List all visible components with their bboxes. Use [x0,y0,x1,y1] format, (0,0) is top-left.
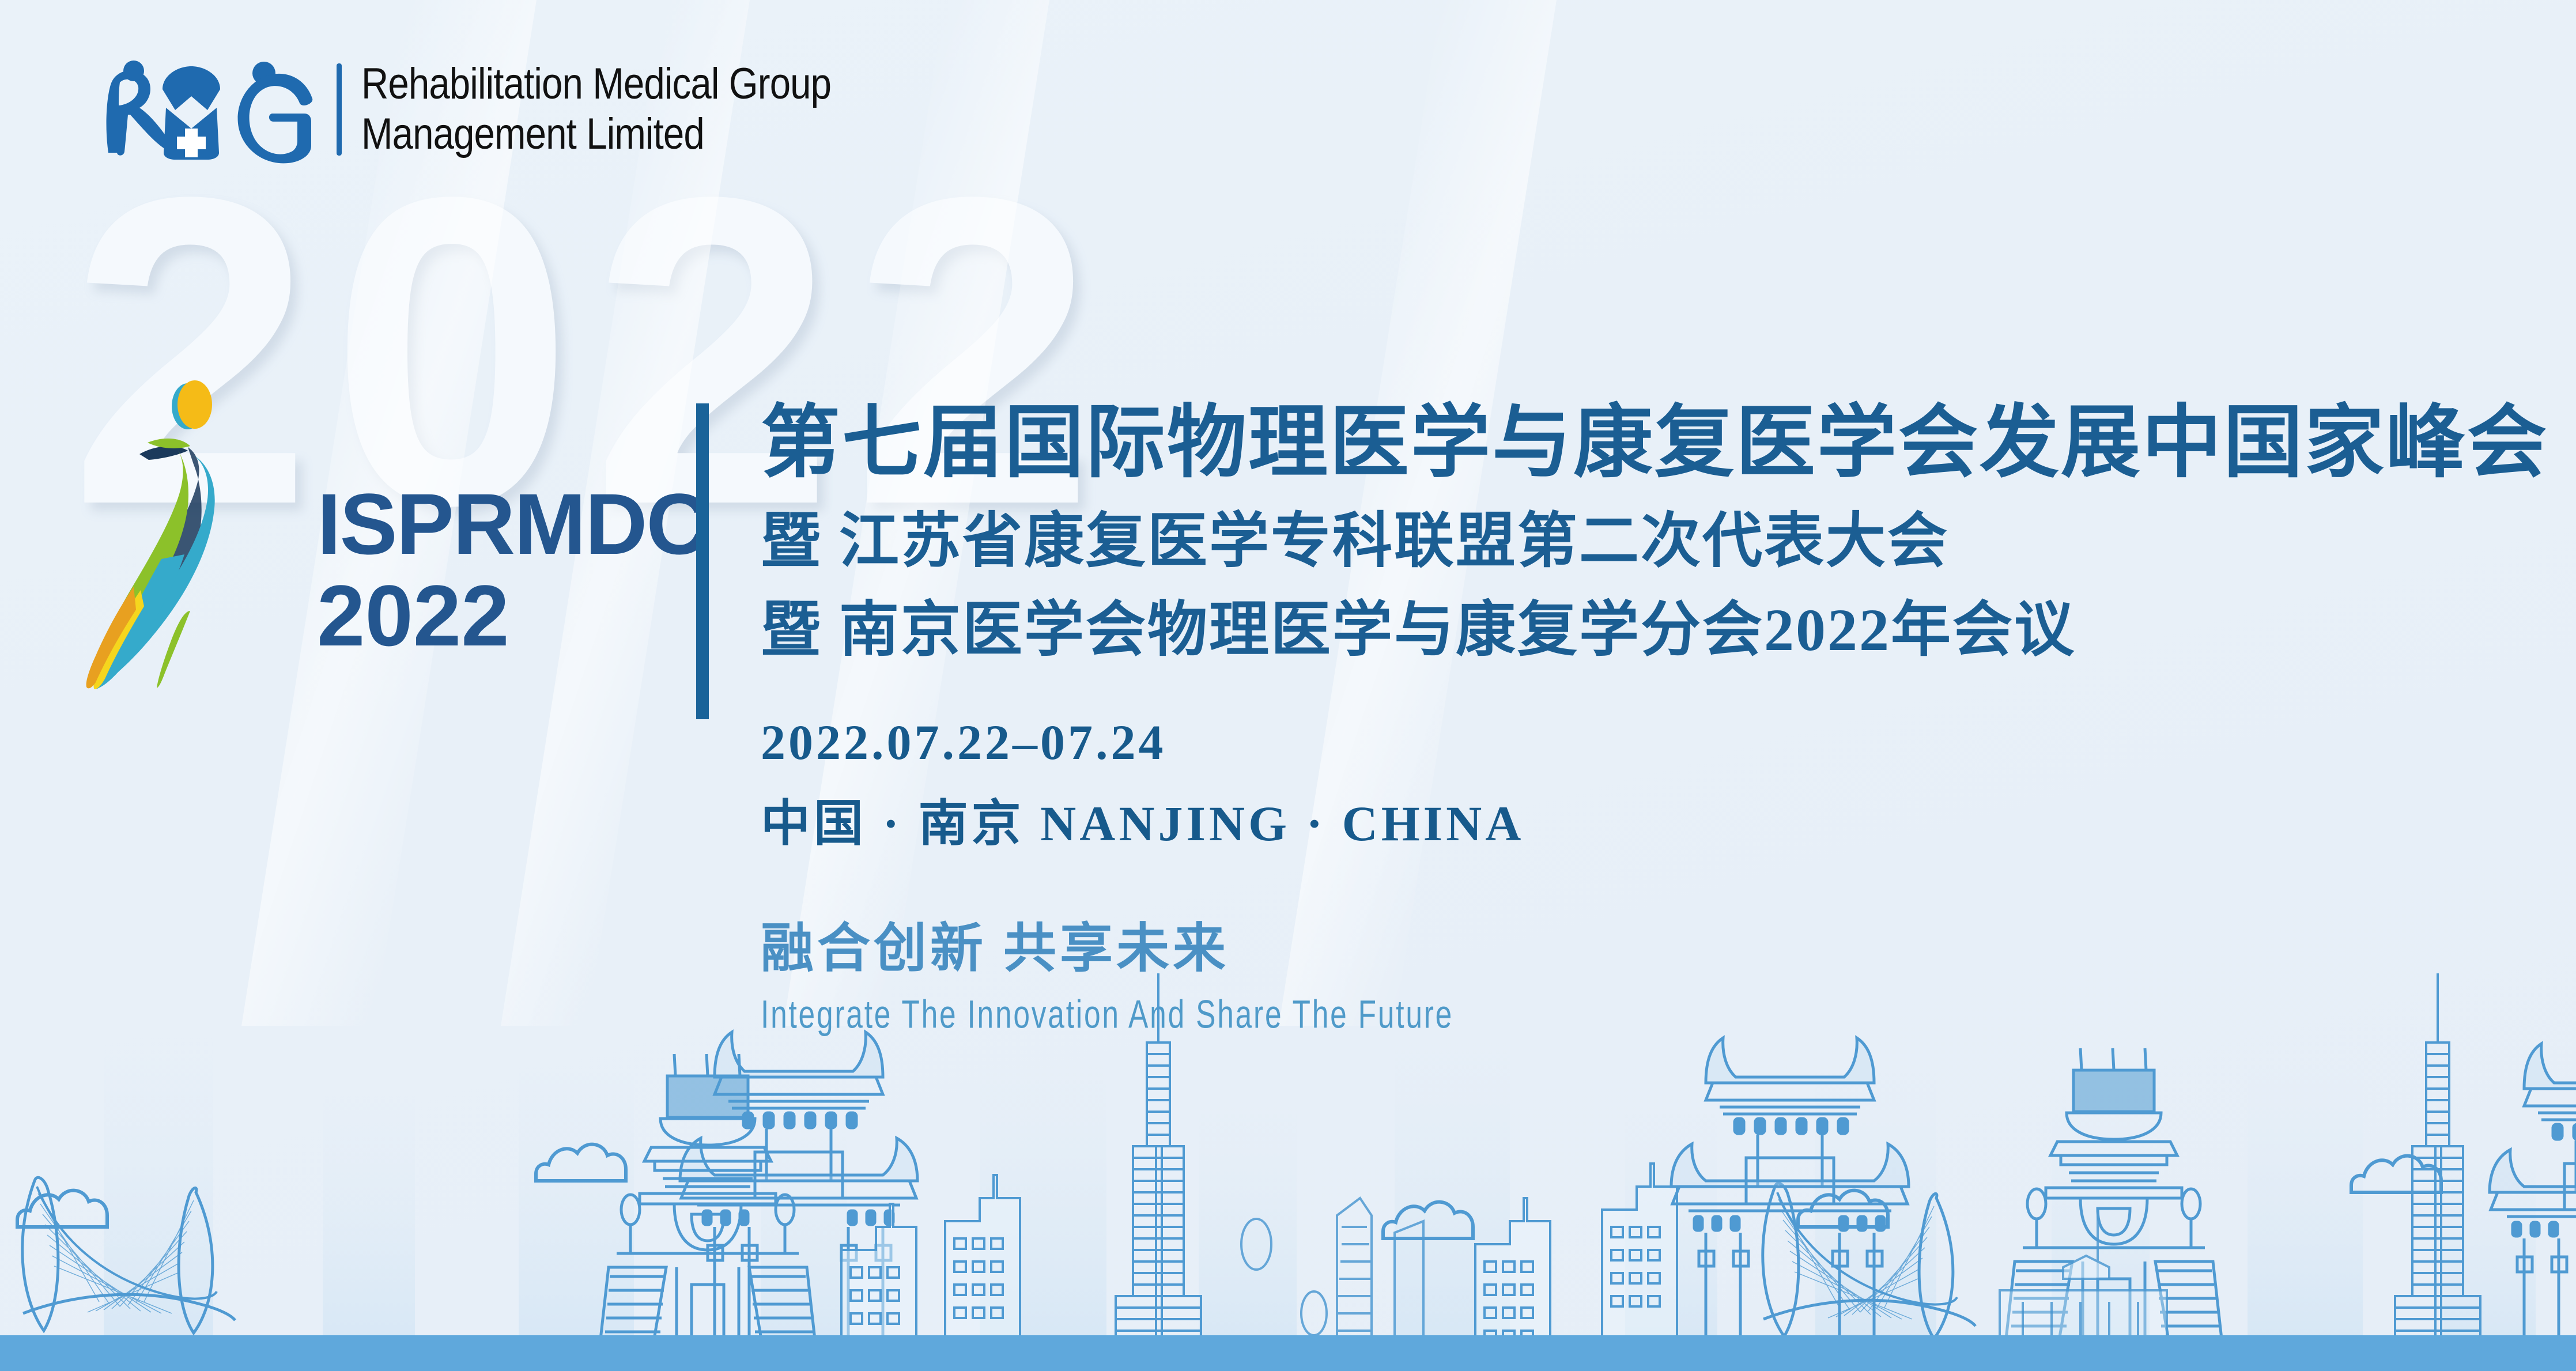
ground-strip [0,1335,2576,1371]
conference-banner: 2022 [0,0,2576,1371]
rmg-brand-header: Rehabilitation Medical Group Management … [92,55,908,164]
event-location: 中国 · 南京 NANJING · CHINA [761,783,2524,855]
rmg-brand-line2: Management Limited [361,109,831,160]
event-title-sub2: 暨 南京医学会物理医学与康复学分会2022年会议 [761,600,2524,660]
rmg-brand-name: Rehabilitation Medical Group Management … [361,59,831,159]
event-title-main: 第七届国际物理医学与康复医学会发展中国家峰会 [761,403,2524,483]
nanjing-skyline-illustration [0,968,2576,1371]
isprmdc-bird-logo-icon [75,369,317,692]
event-date: 2022.07.22–07.24 [761,713,2524,771]
brand-divider [337,63,342,156]
title-accent-bar [696,403,709,719]
event-text-column: 第七届国际物理医学与康复医学会发展中国家峰会 暨 江苏省康复医学专科联盟第二次代… [761,403,2524,1029]
rmg-logo-icon [92,55,317,164]
rmg-brand-line1: Rehabilitation Medical Group [361,59,831,109]
event-title-sub1: 暨 江苏省康复医学专科联盟第二次代表大会 [761,512,2524,572]
isprmdc-logo-block: ISPRMDC 2022 [75,369,697,692]
isprmdc-acronym: ISPRMDC [317,478,708,570]
isprmdc-wordmark: ISPRMDC 2022 [317,478,708,662]
isprmdc-year: 2022 [317,570,708,662]
